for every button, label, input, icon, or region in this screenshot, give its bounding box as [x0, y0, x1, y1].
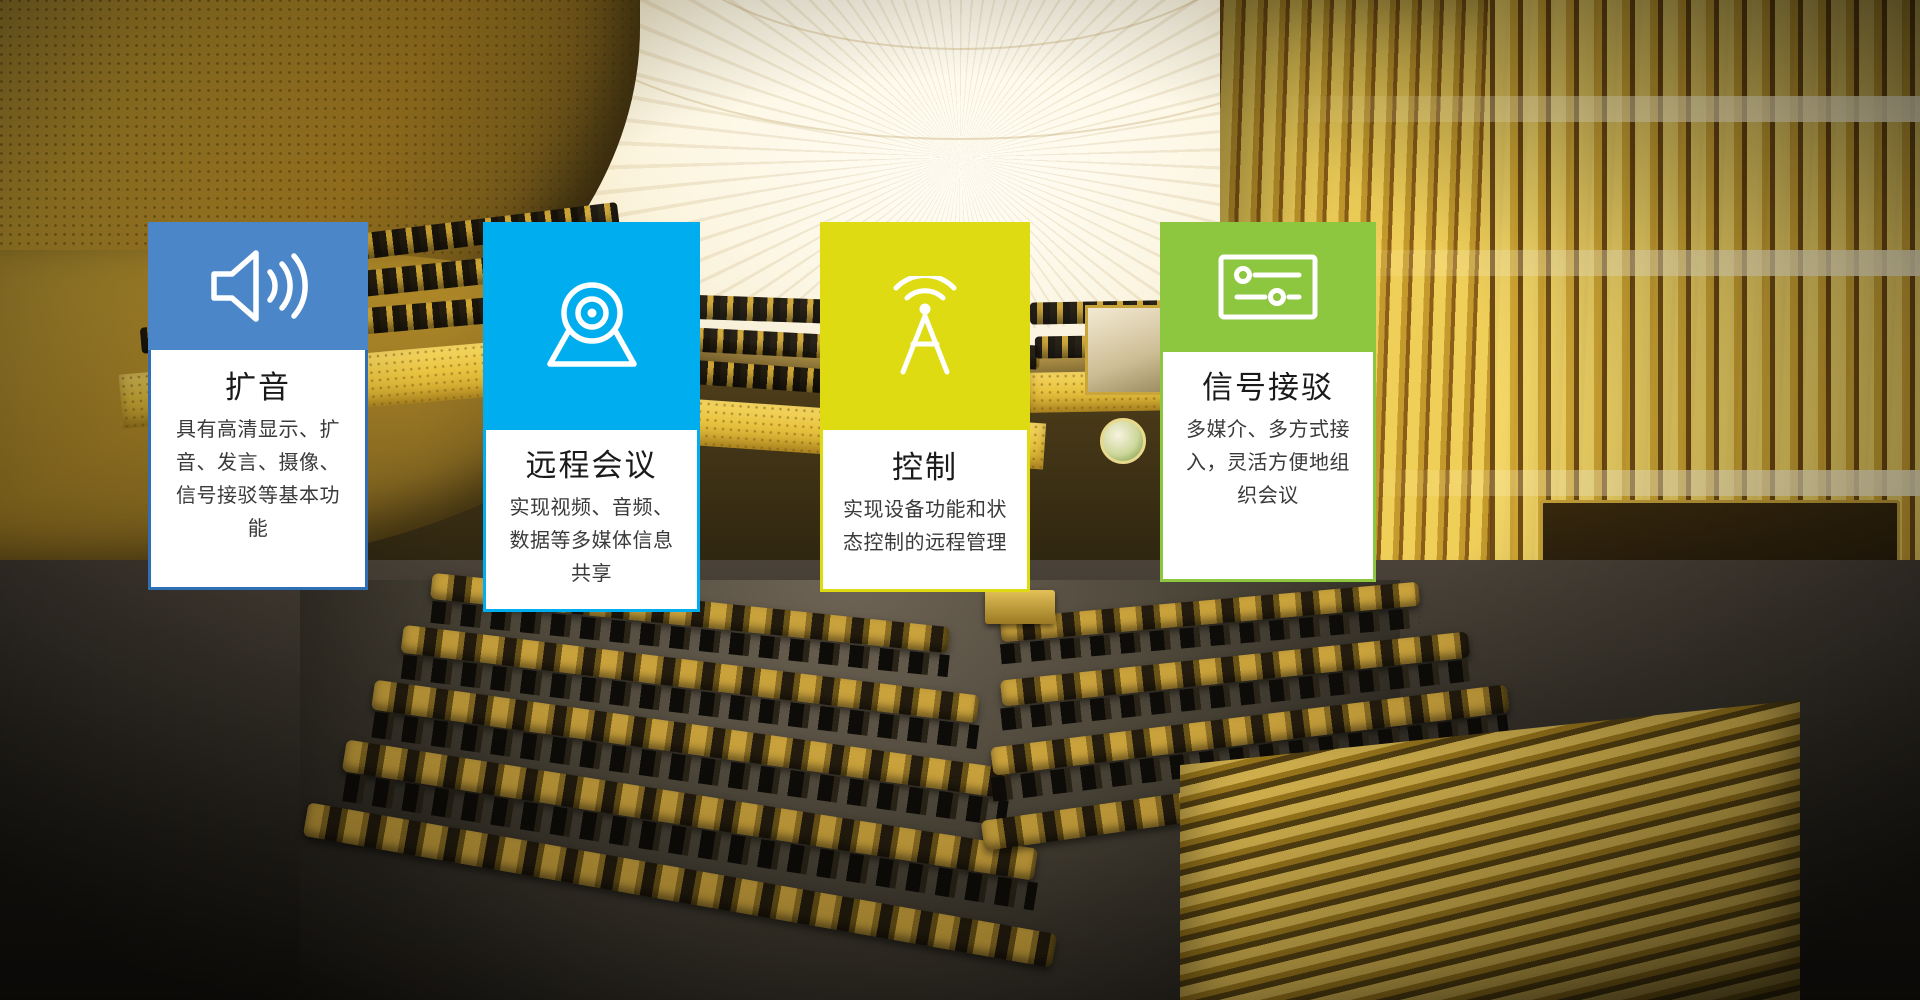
card-description: 实现视频、音频、数据等多媒体信息共享 [502, 492, 681, 591]
card-icon-header [820, 222, 1030, 430]
feature-card-signal-access[interactable]: 信号接驳 多媒介、多方式接入，灵活方便地组织会议 [1160, 222, 1376, 582]
signal-connection-panel-icon [1215, 249, 1321, 325]
card-description: 具有高清显示、扩音、发言、摄像、信号接驳等基本功能 [167, 414, 349, 546]
card-text-body: 信号接驳 多媒介、多方式接入，灵活方便地组织会议 [1160, 352, 1376, 582]
card-title: 控制 [839, 450, 1011, 486]
card-title: 信号接驳 [1179, 370, 1357, 406]
card-text-body: 扩音 具有高清显示、扩音、发言、摄像、信号接驳等基本功能 [148, 350, 368, 590]
card-text-body: 远程会议 实现视频、音频、数据等多媒体信息共享 [483, 430, 700, 612]
card-text-body: 控制 实现设备功能和状态控制的远程管理 [820, 430, 1030, 592]
webcam-icon [544, 280, 640, 372]
feature-card-group: 扩音 具有高清显示、扩音、发言、摄像、信号接驳等基本功能 远程会议 实现视频、音 [0, 0, 1920, 1000]
card-title: 扩音 [167, 370, 349, 406]
card-icon-header [148, 222, 368, 350]
feature-card-amplification[interactable]: 扩音 具有高清显示、扩音、发言、摄像、信号接驳等基本功能 [148, 222, 368, 590]
feature-card-control[interactable]: 控制 实现设备功能和状态控制的远程管理 [820, 222, 1030, 592]
card-icon-header [1160, 222, 1376, 352]
card-title: 远程会议 [502, 448, 681, 484]
hero-banner: 扩音 具有高清显示、扩音、发言、摄像、信号接驳等基本功能 远程会议 实现视频、音 [0, 0, 1920, 1000]
signal-tower-icon [883, 276, 967, 376]
card-description: 多媒介、多方式接入，灵活方便地组织会议 [1179, 414, 1357, 513]
card-description: 实现设备功能和状态控制的远程管理 [839, 494, 1011, 560]
speaker-volume-icon [206, 244, 310, 328]
feature-card-remote-conference[interactable]: 远程会议 实现视频、音频、数据等多媒体信息共享 [483, 222, 700, 612]
card-icon-header [483, 222, 700, 430]
